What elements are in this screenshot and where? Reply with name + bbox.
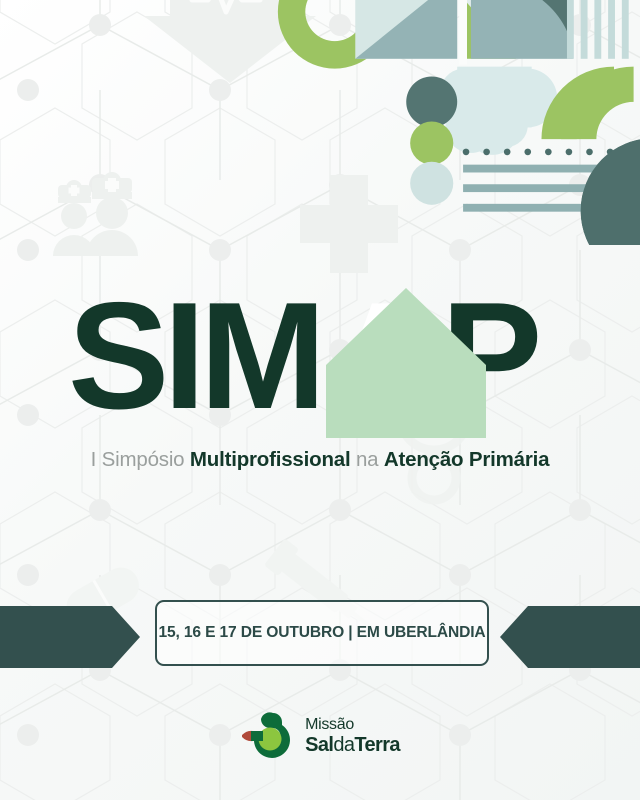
mint-square-shape <box>355 0 457 59</box>
org-name-terra: Terra <box>354 734 400 756</box>
subtitle-part-1: I Simpósio <box>91 448 190 471</box>
pale-circle-shape <box>410 162 453 205</box>
organization-logo: Missão SaldaTerra <box>0 705 640 767</box>
simap-wordmark-block: SIM A P <box>0 278 640 438</box>
organization-name: Missão SaldaTerra <box>305 717 400 755</box>
left-arrow-shape <box>0 606 140 668</box>
event-poster: SIM A P I Simpósio Multiprofissional na … <box>0 0 640 800</box>
vertical-stripes-shape <box>567 0 629 59</box>
mint-cloud-shape <box>440 67 558 155</box>
geometric-composition <box>0 0 640 245</box>
subtitle-part-3: na <box>350 448 383 471</box>
org-name-line2: SaldaTerra <box>305 735 400 755</box>
subtitle-part-4: Atenção Primária <box>384 448 549 471</box>
org-name-sal: Sal <box>305 734 333 756</box>
sal-da-terra-mark-icon <box>240 710 296 762</box>
date-location-banner: 15, 16 E 17 DE OUTUBRO | EM UBERLÂNDIA <box>0 600 640 680</box>
org-name-line1: Missão <box>305 717 400 733</box>
event-subtitle: I Simpósio Multiprofissional na Atenção … <box>0 448 640 472</box>
date-box: 15, 16 E 17 DE OUTUBRO | EM UBERLÂNDIA <box>155 600 489 666</box>
right-arrow-shape <box>500 606 640 668</box>
green-arc-shape-2 <box>561 67 634 140</box>
subtitle-part-2: Multiprofissional <box>190 448 351 471</box>
org-name-da: da <box>333 734 354 756</box>
teal-square-shape <box>471 0 573 59</box>
house-silhouette <box>0 278 640 438</box>
dark-circle-shape <box>406 76 457 127</box>
green-circle-shape <box>410 122 453 165</box>
date-location-text: 15, 16 E 17 DE OUTUBRO | EM UBERLÂNDIA <box>158 624 485 642</box>
